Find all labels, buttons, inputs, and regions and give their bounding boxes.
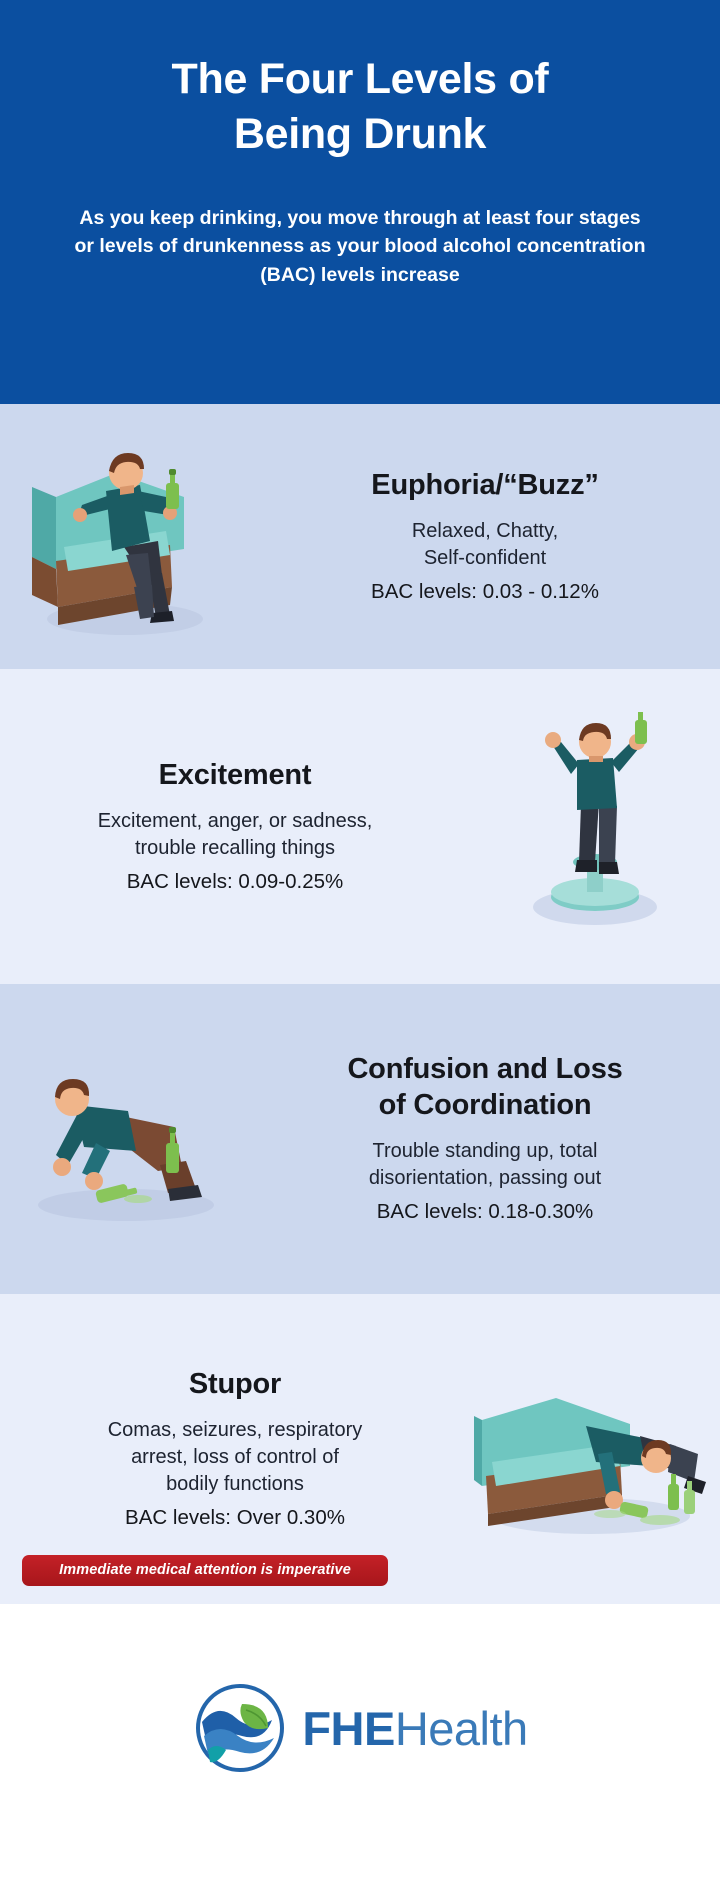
- stage-3-desc-line-2: disorientation, passing out: [266, 1165, 704, 1192]
- man-collapsed-over-couch-with-bottles-icon: [470, 1354, 720, 1544]
- page-title-line-2: Being Drunk: [56, 107, 664, 162]
- stage-1-bac-level: BAC levels: 0.03 - 0.12%: [266, 579, 704, 606]
- stage-2-desc-line-1: Excitement, anger, or sadness,: [16, 808, 454, 835]
- fhe-wave-leaf-circle-logo-icon: [192, 1680, 288, 1776]
- stage-3-title-line-2: of Coordination: [266, 1088, 704, 1124]
- stage-4-title: Stupor: [16, 1367, 454, 1403]
- stage-1-desc-line-2: Self-confident: [266, 545, 704, 572]
- man-on-hands-and-knees-with-spilled-bottles-icon: [18, 1047, 233, 1232]
- stage-1-title: Euphoria/“Buzz”: [266, 468, 704, 504]
- medical-warning-badge: Immediate medical attention is imperativ…: [22, 1555, 388, 1586]
- fhe-health-wordmark: FHEHealth: [302, 1705, 527, 1752]
- stage-4-bac-level: BAC levels: Over 0.30%: [16, 1505, 454, 1532]
- stage-1-text: Euphoria/“Buzz” Relaxed, Chatty, Self-co…: [250, 468, 720, 606]
- stage-2-bac-level: BAC levels: 0.09-0.25%: [16, 869, 454, 896]
- stage-4-desc-line-2: arrest, loss of control of: [16, 1444, 454, 1471]
- stage-4-desc-line-1: Comas, seizures, respiratory: [16, 1417, 454, 1444]
- stage-4-illustration: [470, 1294, 720, 1604]
- stage-2-illustration: [470, 669, 720, 984]
- stage-2-title: Excitement: [16, 758, 454, 794]
- stage-section-excitement: Excitement Excitement, anger, or sadness…: [0, 669, 720, 984]
- stage-2-desc-line-2: trouble recalling things: [16, 835, 454, 862]
- stage-section-euphoria: Euphoria/“Buzz” Relaxed, Chatty, Self-co…: [0, 404, 720, 669]
- stage-1-desc-line-1: Relaxed, Chatty,: [266, 518, 704, 545]
- warning-banner-wrap: Immediate medical attention is imperativ…: [22, 1555, 388, 1586]
- header-banner: The Four Levels of Being Drunk As you ke…: [0, 0, 720, 404]
- page-title: The Four Levels of Being Drunk: [56, 52, 664, 162]
- stage-3-desc-line-1: Trouble standing up, total: [266, 1138, 704, 1165]
- footer: FHEHealth: [0, 1604, 720, 1836]
- man-sitting-on-couch-with-bottle-icon: [20, 429, 230, 644]
- stage-section-stupor: Stupor Comas, seizures, respiratory arre…: [0, 1294, 720, 1604]
- stage-3-illustration: [0, 984, 250, 1294]
- man-standing-on-stool-arms-raised-with-bottle-icon: [495, 712, 695, 942]
- stage-1-illustration: [0, 404, 250, 669]
- stage-4-text: Stupor Comas, seizures, respiratory arre…: [0, 1367, 470, 1532]
- stage-3-bac-level: BAC levels: 0.18-0.30%: [266, 1199, 704, 1226]
- stage-section-confusion: Confusion and Loss of Coordination Troub…: [0, 984, 720, 1294]
- logo-text-bold: FHE: [302, 1702, 395, 1755]
- stage-3-title: Confusion and Loss of Coordination: [266, 1052, 704, 1124]
- logo-text-light: Health: [395, 1702, 528, 1755]
- page-title-line-1: The Four Levels of: [56, 52, 664, 107]
- stage-4-desc-line-3: bodily functions: [16, 1471, 454, 1498]
- stage-3-title-line-1: Confusion and Loss: [266, 1052, 704, 1088]
- fhe-health-logo[interactable]: FHEHealth: [192, 1680, 527, 1776]
- stage-3-text: Confusion and Loss of Coordination Troub…: [250, 1052, 720, 1226]
- page-subtitle: As you keep drinking, you move through a…: [56, 204, 664, 289]
- stage-2-text: Excitement Excitement, anger, or sadness…: [0, 758, 470, 896]
